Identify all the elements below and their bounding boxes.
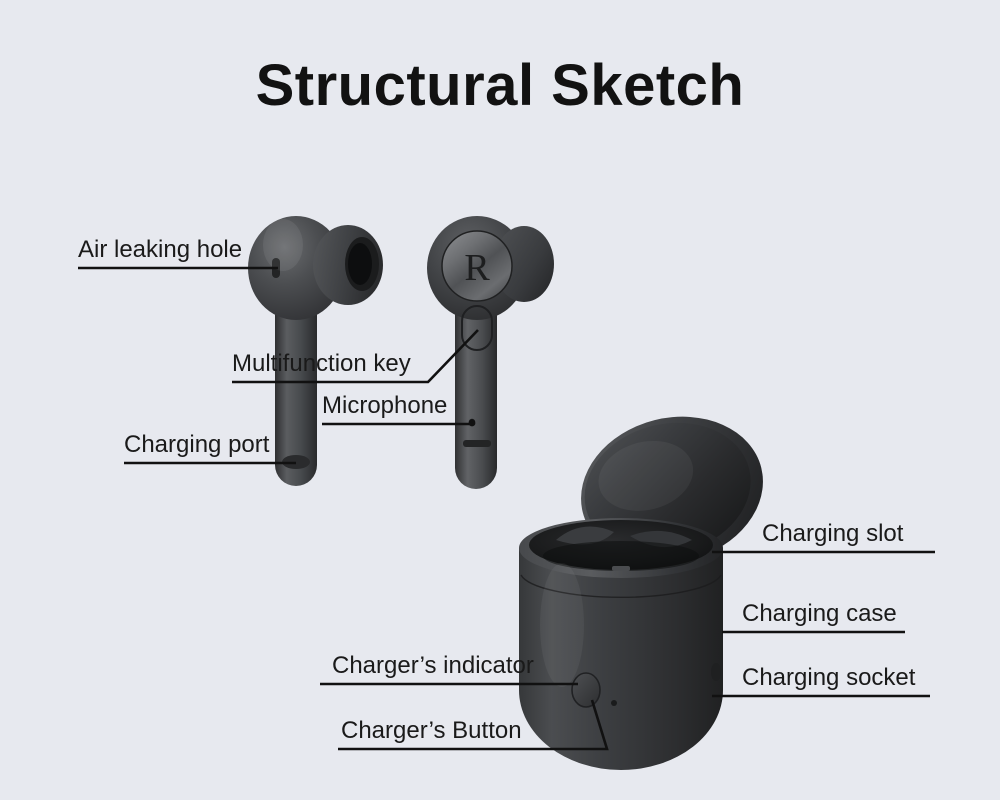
chargers-indicator-led bbox=[611, 700, 617, 706]
label-multifunction-key: Multifunction key bbox=[232, 350, 411, 378]
label-air-leaking-hole: Air leaking hole bbox=[78, 236, 242, 264]
left-earbud-charging-port bbox=[282, 455, 310, 469]
charging-case bbox=[519, 398, 779, 770]
charging-case-latch bbox=[612, 566, 630, 571]
charging-socket bbox=[711, 663, 721, 681]
chargers-button bbox=[572, 673, 600, 707]
microphone-pinhole bbox=[469, 419, 475, 425]
left-earbud-nozzle-bore bbox=[348, 243, 372, 285]
right-earbud-letter-R: R bbox=[464, 247, 490, 289]
label-charging-port: Charging port bbox=[124, 431, 269, 459]
label-chargers-indicator: Charger’s indicator bbox=[332, 652, 534, 680]
label-chargers-button: Charger’s Button bbox=[341, 717, 522, 745]
right-earbud-charging-contact bbox=[463, 440, 491, 447]
label-microphone: Microphone bbox=[322, 392, 447, 420]
right-earbud: R R bbox=[427, 216, 554, 489]
label-charging-slot: Charging slot bbox=[762, 520, 903, 548]
left-earbud-highlight bbox=[263, 219, 303, 271]
diagram-canvas: Structural Sketch bbox=[0, 0, 1000, 800]
label-charging-socket: Charging socket bbox=[742, 664, 915, 692]
charging-case-highlight bbox=[540, 563, 584, 687]
label-charging-case: Charging case bbox=[742, 600, 897, 628]
